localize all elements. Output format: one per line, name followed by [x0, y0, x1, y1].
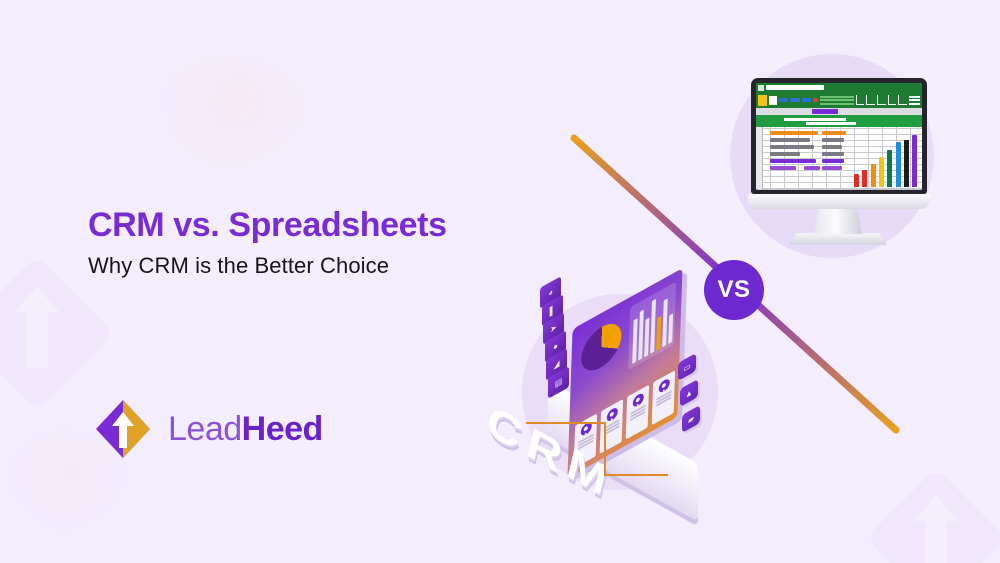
- background-watermark-bottom-right: [886, 488, 986, 563]
- spreadsheet-search-field[interactable]: [766, 85, 824, 90]
- crm-chart-bar: [632, 318, 637, 364]
- crm-chart-bar: [650, 299, 656, 354]
- chart-bar: [879, 157, 884, 187]
- spreadsheet-row-bar: [822, 152, 844, 156]
- spreadsheet-app-icon: [758, 85, 764, 91]
- background-watermark-left: [0, 278, 92, 388]
- spreadsheet-row-headers: [756, 127, 763, 189]
- crm-connector-horizontal: [526, 422, 604, 424]
- background-blob-top-left: [142, 62, 302, 162]
- ribbon-overflow-menu-icon[interactable]: [909, 96, 920, 105]
- chart-bar: [912, 135, 917, 187]
- monitor-stand-neck: [814, 208, 862, 234]
- crm-pie-chart: [581, 316, 622, 379]
- page-subtitle: Why CRM is the Better Choice: [88, 253, 447, 279]
- crm-icon-strip: ◕▌➤●◢▤: [540, 282, 566, 392]
- crm-chart-bar: [644, 317, 649, 357]
- spreadsheet-titlebar: [756, 83, 922, 92]
- crm-connector-vertical: [604, 422, 606, 474]
- watermark-diamond-shape: [865, 467, 1000, 563]
- crm-chart-bar: [638, 309, 644, 360]
- watermark-arrow-shape: [926, 514, 946, 563]
- headline-block: CRM vs. Spreadsheets Why CRM is the Bett…: [88, 206, 447, 279]
- crm-letter: R: [522, 417, 565, 482]
- crm-chart-bar: [662, 298, 668, 348]
- spreadsheet-status-bar: [756, 189, 922, 190]
- spreadsheet-grid: [756, 127, 922, 189]
- ribbon-menu-lines: [820, 96, 854, 105]
- chart-bar: [854, 174, 859, 187]
- chart-bar: [887, 150, 892, 187]
- monitor-base: [789, 233, 887, 245]
- monitor-bottom-bezel: [748, 194, 930, 209]
- page-title: CRM vs. Spreadsheets: [88, 206, 447, 245]
- monitor-bezel: [751, 78, 927, 194]
- spreadsheet-column-header-row: [756, 108, 922, 115]
- crm-dashboard-illustration: ◕▌➤●◢▤ ▭▲▰ CRM: [492, 272, 732, 522]
- pie-slice-group: [581, 316, 622, 379]
- ribbon-cell-icon[interactable]: [898, 95, 907, 105]
- spreadsheet-row-bar: [770, 131, 818, 135]
- ribbon-table-icon[interactable]: [769, 96, 777, 105]
- crm-letter: M: [562, 437, 610, 505]
- ribbon-cell-icon[interactable]: [877, 95, 886, 105]
- ribbon-alert-icon[interactable]: [813, 98, 817, 102]
- spreadsheet-row-bar: [770, 145, 814, 149]
- crm-chart-bar: [668, 313, 673, 344]
- spreadsheet-row-bar: [770, 159, 816, 163]
- chart-bar: [871, 164, 876, 187]
- spreadsheet-row-bar: [822, 131, 846, 135]
- spreadsheet-monitor-illustration: [726, 48, 946, 262]
- spreadsheet-row-bar: [770, 138, 810, 142]
- spreadsheet-bar-chart: [851, 129, 921, 187]
- chart-bar: [896, 142, 901, 187]
- spreadsheet-row-bar: [822, 145, 842, 149]
- spreadsheet-row-bar: [770, 152, 800, 156]
- brand-logo[interactable]: LeadHeed: [92, 398, 323, 460]
- logo-wordmark: LeadHeed: [168, 412, 323, 446]
- crm-letter: C: [482, 395, 525, 460]
- logo-word-heed: Heed: [242, 410, 323, 448]
- logo-word-lead: Lead: [168, 410, 242, 448]
- watermark-arrow-shape: [26, 307, 48, 369]
- ribbon-cell-icon[interactable]: [856, 95, 865, 105]
- monitor-screen: [756, 83, 922, 190]
- spreadsheet-row-bar: [822, 138, 844, 142]
- chart-bar: [904, 140, 909, 187]
- crm-3d-wordmark: CRM: [488, 400, 658, 510]
- banner-canvas: CRM vs. Spreadsheets Why CRM is the Bett…: [0, 0, 1000, 563]
- ribbon-cell-icon[interactable]: [866, 95, 875, 105]
- spreadsheet-row-bar: [804, 166, 820, 170]
- logo-diamond-icon: [92, 398, 154, 460]
- ribbon-style-button[interactable]: [802, 98, 811, 102]
- spreadsheet-row-bar: [822, 166, 842, 170]
- spreadsheet-row-bar: [770, 166, 796, 170]
- chart-bar: [862, 170, 867, 187]
- ribbon-align-button[interactable]: [790, 98, 799, 102]
- crm-chart-bar: [656, 316, 661, 350]
- ribbon-paste-icon[interactable]: [758, 95, 767, 106]
- crm-connector-branch: [604, 474, 668, 476]
- selected-column-highlight: [812, 109, 838, 114]
- spreadsheet-row-bar: [822, 159, 844, 163]
- spreadsheet-ribbon-toolbar: [756, 92, 922, 108]
- ribbon-format-button[interactable]: [779, 98, 788, 102]
- ribbon-cell-icon[interactable]: [888, 95, 897, 105]
- spreadsheet-header-band: [756, 115, 922, 127]
- crm-bar-chart: [628, 282, 676, 371]
